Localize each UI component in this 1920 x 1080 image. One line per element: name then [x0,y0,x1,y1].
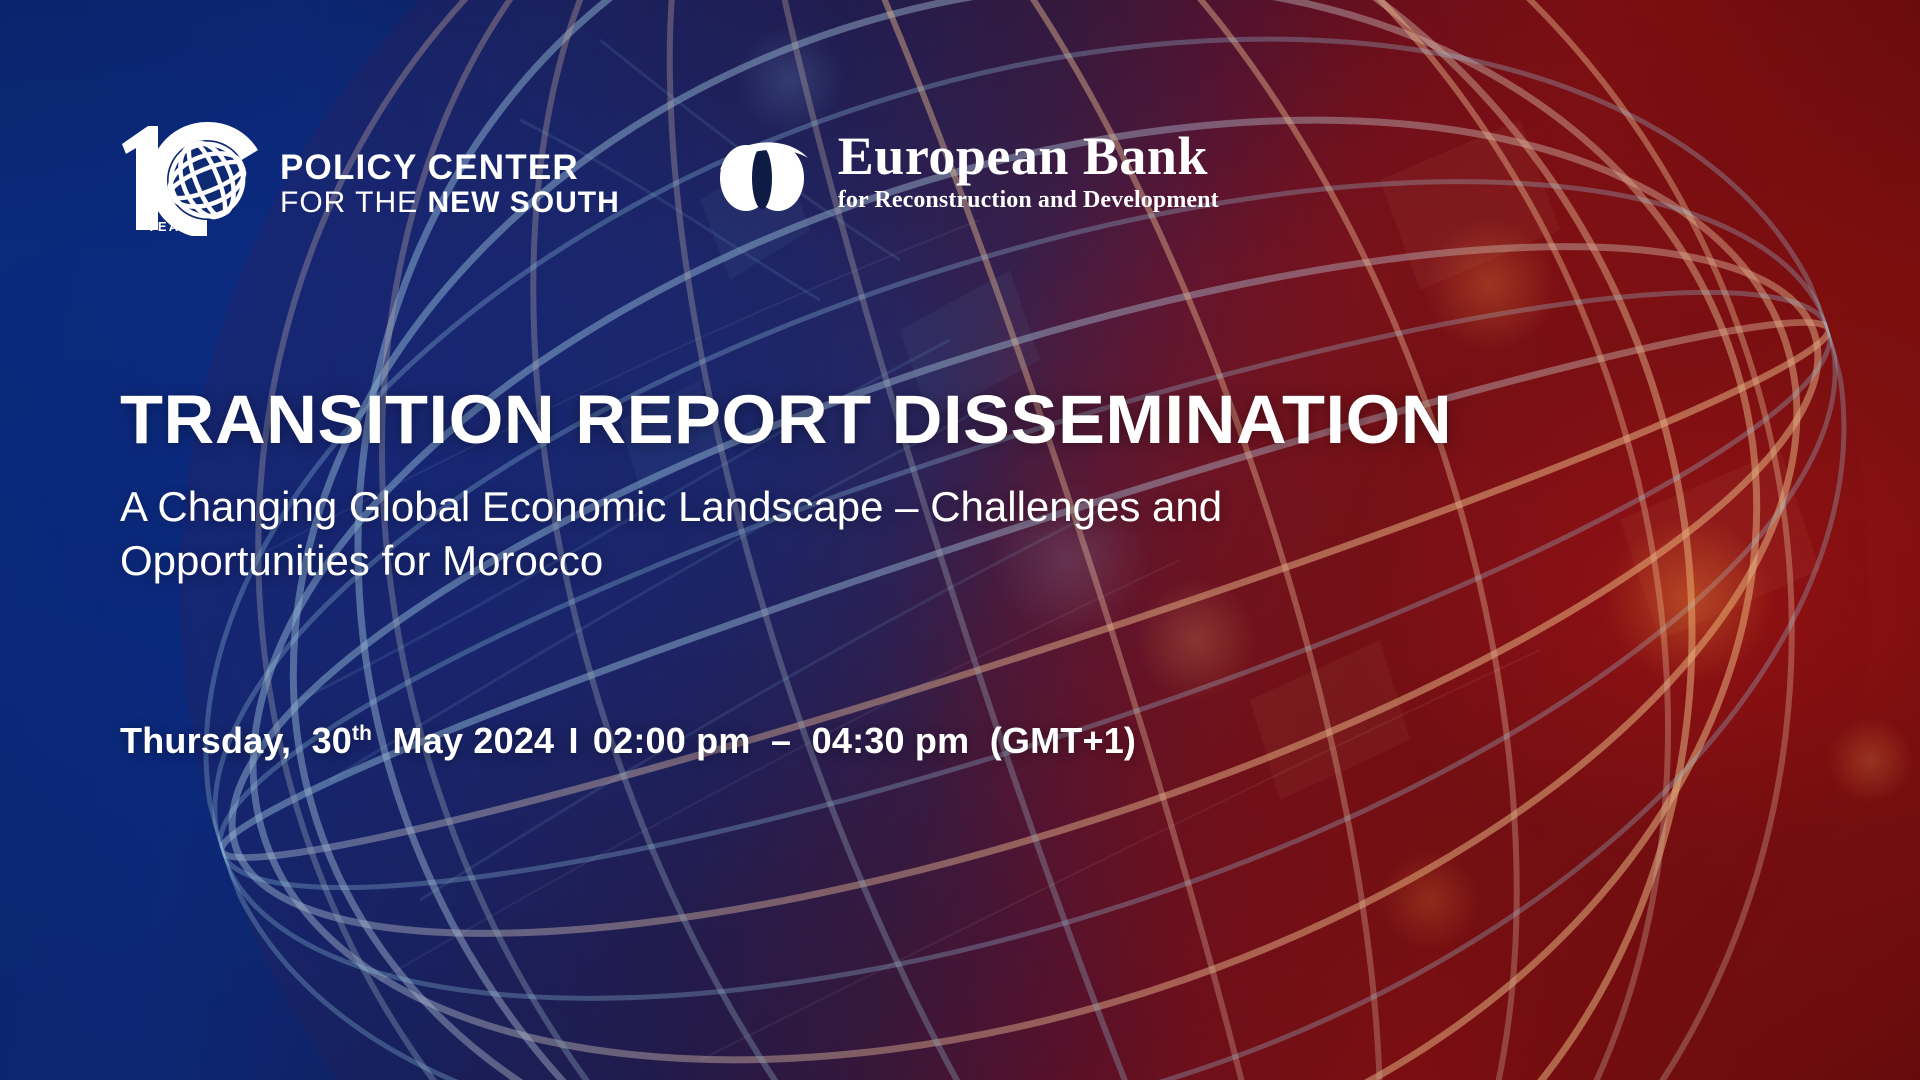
page-title: TRANSITION REPORT DISSEMINATION [120,385,1711,454]
policy-center-logo: YEARS POLICY CENTER FOR THE NEW SOUTH [110,118,620,236]
ebrd-line2: for Reconstruction and Development [838,188,1219,212]
ebrd-mark [708,126,818,216]
pcns-wordmark: POLICY CENTER FOR THE NEW SOUTH [280,136,620,218]
ebrd-wordmark: European Bank for Reconstruction and Dev… [838,129,1219,213]
pcns-anniversary-mark: YEARS [110,118,270,236]
subtitle-line-1: A Changing Global Economic Landscape – C… [120,483,1222,530]
banner-content: YEARS POLICY CENTER FOR THE NEW SOUTH [0,0,1920,1080]
ebrd-double-o-icon [708,126,818,216]
pcns-line2-prefix: FOR THE [280,186,427,219]
datetime-day: 30 [312,720,352,761]
datetime-separator: I [564,720,582,761]
event-banner: YEARS POLICY CENTER FOR THE NEW SOUTH [0,0,1920,1080]
datetime-day-ordinal: th [352,722,372,745]
pcns-line2: FOR THE NEW SOUTH [280,188,620,218]
datetime-timezone: (GMT+1) [990,720,1136,761]
pcns-line2-bold: NEW SOUTH [427,186,619,219]
subtitle-line-2: Opportunities for Morocco [120,537,603,584]
logo-row: YEARS POLICY CENTER FOR THE NEW SOUTH [110,118,1219,236]
event-datetime: Thursday, 30th May 2024 I 02:00 pm – 04:… [120,720,1136,762]
datetime-weekday: Thursday, [120,720,291,761]
datetime-month-year: May 2024 [393,720,555,761]
ebrd-logo: European Bank for Reconstruction and Dev… [708,118,1219,216]
datetime-time-start: 02:00 pm [593,720,751,761]
datetime-time-dash: – [771,720,791,761]
headline-block: TRANSITION REPORT DISSEMINATION A Changi… [120,385,1680,588]
page-subtitle: A Changing Global Economic Landscape – C… [120,480,1660,588]
pcns-line1: POLICY CENTER [280,150,620,185]
ebrd-line1: European Bank [838,129,1219,184]
pcns-years-label: YEARS [147,219,203,234]
datetime-time-end: 04:30 pm [812,720,970,761]
